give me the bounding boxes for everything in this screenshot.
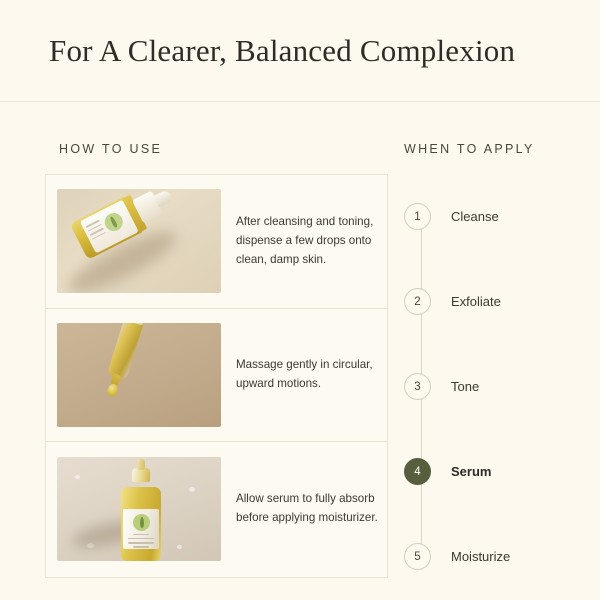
step-number: 4 [404, 458, 431, 485]
page-title: For A Clearer, Balanced Complexion [49, 33, 515, 69]
stone-speck [189, 487, 195, 492]
step-number: 3 [404, 373, 431, 400]
serum-bottle-upright-photo [57, 457, 221, 561]
step-label: Cleanse [431, 209, 499, 224]
when-to-apply-steps: 1 Cleanse 2 Exfoliate 3 Tone 4 Serum 5 M… [404, 174, 574, 599]
how-to-use-heading: HOW TO USE [59, 142, 162, 156]
leaf-emblem-icon [133, 514, 150, 531]
step-item-moisturize[interactable]: 5 Moisturize [404, 514, 574, 599]
step-label: Tone [431, 379, 479, 394]
step-number: 2 [404, 288, 431, 315]
label-text-lines [128, 534, 154, 550]
stone-speck [177, 545, 182, 549]
step-item-tone[interactable]: 3 Tone [404, 344, 574, 429]
step-number: 5 [404, 543, 431, 570]
step-label: Exfoliate [431, 294, 501, 309]
step-label: Serum [431, 464, 491, 479]
how-to-use-row: Allow serum to fully absorb before apply… [46, 442, 387, 576]
how-to-use-card: After cleansing and toning, dispense a f… [45, 174, 388, 578]
step-number: 1 [404, 203, 431, 230]
dropper-knob [137, 459, 145, 470]
dropper-cap [132, 468, 150, 482]
main-content: HOW TO USE WHEN TO APPLY After cleansing… [0, 102, 600, 600]
how-to-use-text: Allow serum to fully absorb before apply… [221, 490, 387, 528]
page-header: For A Clearer, Balanced Complexion [0, 0, 600, 101]
step-item-cleanse[interactable]: 1 Cleanse [404, 174, 574, 259]
step-item-exfoliate[interactable]: 2 Exfoliate [404, 259, 574, 344]
pipette [103, 323, 144, 393]
dropper-pipette-photo [57, 323, 221, 427]
how-to-use-row: Massage gently in circular, upward motio… [46, 309, 387, 443]
step-item-serum[interactable]: 4 Serum [404, 429, 574, 514]
step-label: Moisturize [431, 549, 510, 564]
stone-speck [75, 475, 80, 479]
how-to-use-row: After cleansing and toning, dispense a f… [46, 175, 387, 309]
how-to-use-text: After cleansing and toning, dispense a f… [221, 213, 387, 269]
when-to-apply-heading: WHEN TO APPLY [404, 142, 535, 156]
serum-bottle-lying-photo [57, 189, 221, 293]
how-to-use-text: Massage gently in circular, upward motio… [221, 356, 387, 394]
pipette-glass [107, 323, 145, 381]
